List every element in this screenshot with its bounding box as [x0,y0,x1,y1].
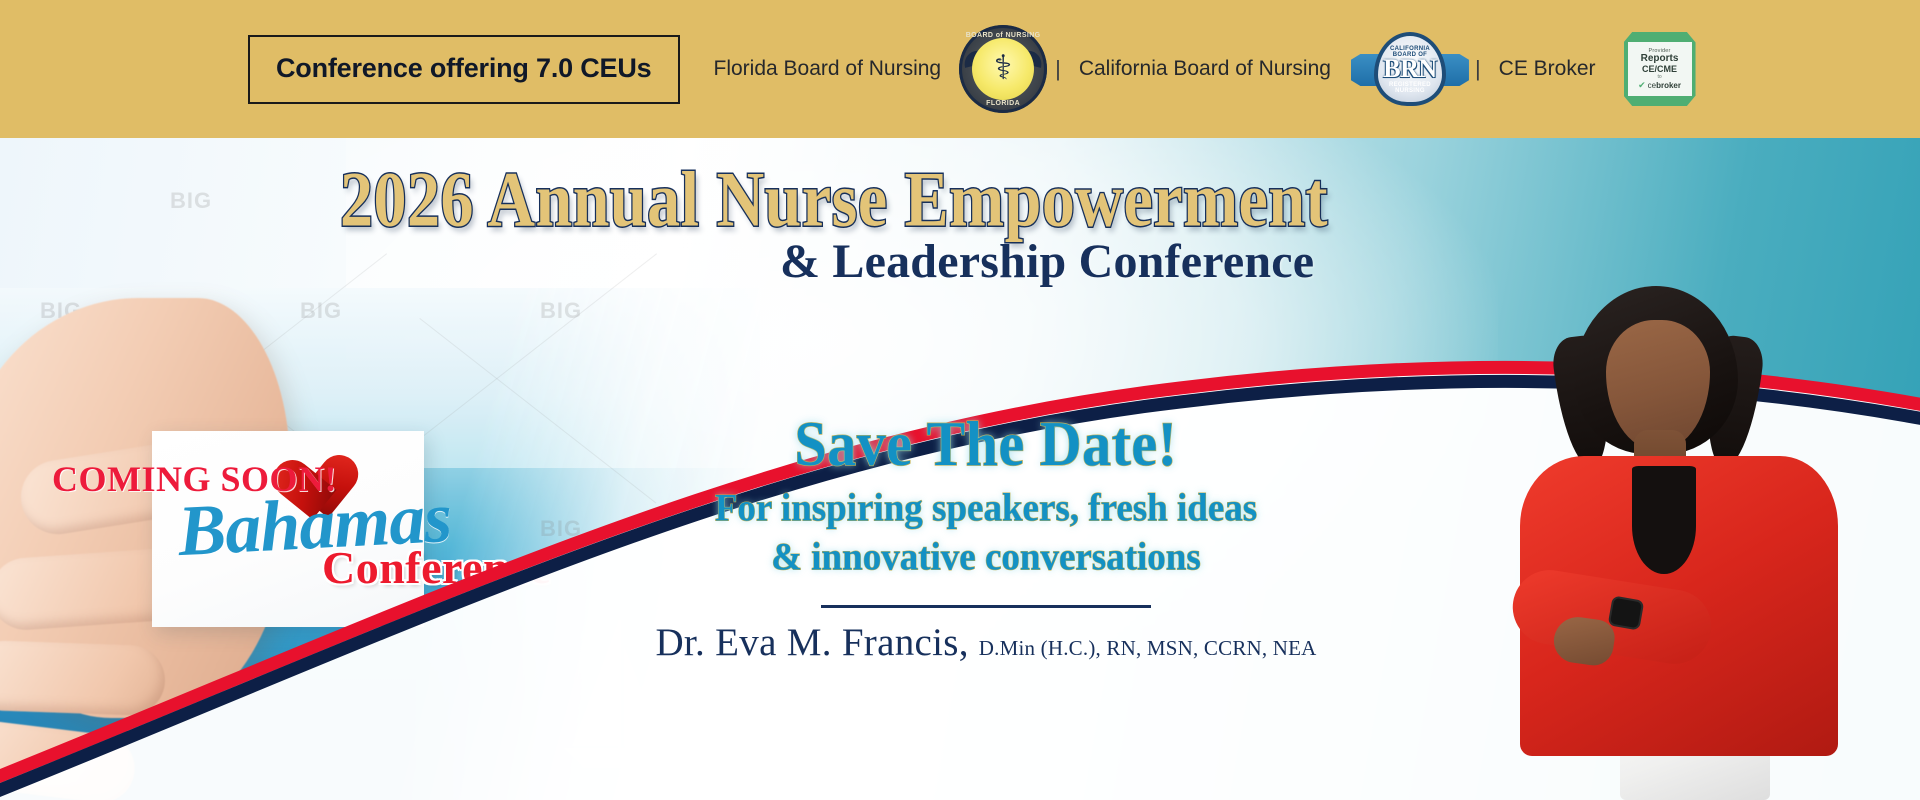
brn-shield-text: BRN [1383,54,1436,84]
ce-broker-wordmark-light: ce [1648,81,1656,90]
speaker-watch [1608,595,1645,630]
save-the-date-headline: Save The Date! [676,407,1296,481]
check-icon: ✔ [1638,81,1646,90]
separator-1: | [1053,56,1067,82]
brn-arc-top: CALIFORNIA BOARD OF [1378,46,1442,58]
florida-board-label: Florida Board of Nursing [702,57,954,81]
florida-seal-arc-bottom: FLORIDA [959,100,1047,107]
speaker-top [1632,466,1696,574]
separator-2: | [1473,56,1487,82]
hero-banner: BIG BIG BIG BIG BIG BIG BIG COMING SOON!… [0,138,1920,800]
save-the-date-line-1: For inspiring speakers, fresh ideas [676,486,1296,532]
watermark-2: BIG [170,188,212,214]
accreditation-item-florida: Florida Board of Nursing BOARD of NURSIN… [702,25,1054,113]
ce-broker-wordmark: cebroker [1648,81,1681,90]
florida-seal-inner: ⚕ [972,38,1034,100]
ceu-badge: Conference offering 7.0 CEUs [248,35,680,104]
ce-broker-wordmark-bold: broker [1656,81,1681,90]
page-subtitle: & Leadership Conference [780,234,1314,289]
speaker-byline: Dr. Eva M. Francis, D.Min (H.C.), RN, MS… [676,620,1296,665]
save-the-date-line-2: & innovative conversations [676,535,1296,581]
bahamas-conference-wordmark: Conference [322,541,551,594]
divider-rule [821,605,1151,608]
brn-shield-icon: CALIFORNIA BOARD OF BRN REGISTERED NURSI… [1374,32,1446,106]
ce-broker-logo-row: ✔ cebroker [1638,81,1681,90]
speaker-credentials: D.Min (H.C.), RN, MSN, CCRN, NEA [979,636,1317,661]
ce-broker-to-text: to [1657,74,1661,80]
brn-arc-bottom: REGISTERED NURSING [1378,82,1442,94]
accreditation-item-california: California Board of Nursing CALIFORNIA B… [1067,26,1473,112]
florida-board-seal-icon: BOARD of NURSING ⚕ FLORIDA [959,25,1047,113]
save-the-date-block: Save The Date! For inspiring speakers, f… [676,410,1296,665]
ce-broker-badge-inner: Provider Reports CE/CME to ✔ cebroker [1628,42,1692,96]
finger-3 [0,640,166,717]
banner-page: Conference offering 7.0 CEUs Florida Boa… [0,0,1920,800]
accreditation-item-ce-broker: CE Broker Provider Reports CE/CME to ✔ c… [1487,32,1696,106]
caduceus-icon: ⚕ [994,51,1012,85]
ce-broker-badge-icon: Provider Reports CE/CME to ✔ cebroker [1624,32,1696,106]
speaker-photo [1510,280,1840,800]
page-title: 2026 Annual Nurse Empowerment [340,156,1328,246]
speaker-name: Dr. Eva M. Francis, [655,620,968,665]
ce-broker-label: CE Broker [1487,57,1608,81]
ce-broker-reports-text: Reports [1641,54,1679,65]
accreditation-bar: Conference offering 7.0 CEUs Florida Boa… [0,0,1920,138]
ceu-badge-label: Conference offering 7.0 CEUs [276,53,652,84]
ce-broker-cecme-text: CE/CME [1642,65,1677,74]
brn-badge-icon: CALIFORNIA BOARD OF BRN REGISTERED NURSI… [1351,26,1469,112]
california-board-label: California Board of Nursing [1067,57,1343,81]
